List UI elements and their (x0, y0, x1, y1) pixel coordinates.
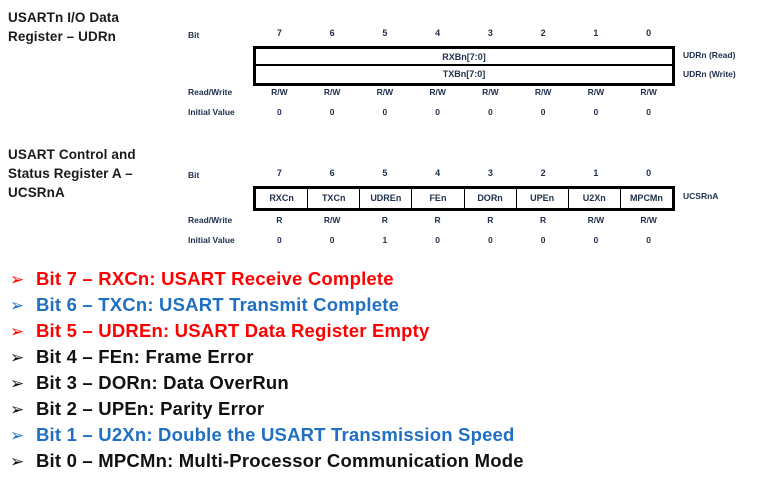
list-item: ➢ Bit 0 – MPCMn: Multi-Processor Communi… (10, 448, 760, 474)
initial-value: 0 (517, 107, 570, 117)
list-item: ➢ Bit 1 – U2Xn: Double the USART Transmi… (10, 422, 760, 448)
arrow-bullet-icon: ➢ (10, 267, 36, 293)
side-label-udrn-write: UDRn (Write) (683, 69, 736, 79)
initial-value: 0 (306, 107, 359, 117)
bit-number: 6 (306, 168, 359, 178)
initial-value: 0 (411, 235, 464, 245)
row-label-initial-value: Initial Value (188, 235, 235, 245)
arrow-bullet-icon: ➢ (10, 319, 36, 345)
list-item: ➢ Bit 5 – UDREn: USART Data Register Emp… (10, 318, 760, 344)
read-write-row: R/W R/W R/W R/W R/W R/W R/W R/W (253, 87, 675, 97)
read-write-value: R/W (622, 215, 675, 225)
initial-value: 0 (411, 107, 464, 117)
arrow-bullet-icon: ➢ (10, 371, 36, 397)
initial-value-row: 0 0 0 0 0 0 0 0 (253, 107, 675, 117)
initial-value: 0 (253, 235, 306, 245)
bit-number: 4 (411, 28, 464, 38)
read-write-value: R (359, 215, 412, 225)
bit-number: 0 (622, 28, 675, 38)
read-write-value: R/W (570, 215, 623, 225)
read-write-value: R/W (622, 87, 675, 97)
read-write-value: R/W (570, 87, 623, 97)
register-bit-cell: DORn (465, 189, 517, 208)
register-bit-cell: U2Xn (569, 189, 621, 208)
initial-value: 0 (622, 107, 675, 117)
bit-description: Bit 5 – UDREn: USART Data Register Empty (36, 318, 429, 344)
register-field-txbn: TXBn[7:0] (256, 66, 672, 83)
row-label-read-write: Read/Write (188, 87, 232, 97)
read-write-value: R (464, 215, 517, 225)
initial-value: 0 (359, 107, 412, 117)
list-item: ➢ Bit 2 – UPEn: Parity Error (10, 396, 760, 422)
register-bit-cell: TXCn (308, 189, 360, 208)
initial-value: 0 (570, 107, 623, 117)
initial-value: 0 (306, 235, 359, 245)
read-write-value: R/W (517, 87, 570, 97)
register-field-box-udrn: RXBn[7:0] TXBn[7:0] (253, 46, 675, 86)
bit-description: Bit 2 – UPEn: Parity Error (36, 396, 264, 422)
bit-number: 3 (464, 28, 517, 38)
bit-number: 7 (253, 28, 306, 38)
list-item: ➢ Bit 6 – TXCn: USART Transmit Complete (10, 292, 760, 318)
arrow-bullet-icon: ➢ (10, 293, 36, 319)
initial-value-row: 0 0 1 0 0 0 0 0 (253, 235, 675, 245)
initial-value: 0 (253, 107, 306, 117)
register-bit-cell: RXCn (256, 189, 308, 208)
bit-description: Bit 0 – MPCMn: Multi-Processor Communica… (36, 448, 524, 474)
bit-number: 2 (517, 28, 570, 38)
read-write-value: R/W (253, 87, 306, 97)
side-label-ucsrna: UCSRnA (683, 191, 718, 201)
read-write-value: R/W (306, 87, 359, 97)
initial-value: 0 (570, 235, 623, 245)
row-label-bit: Bit (188, 170, 199, 180)
arrow-bullet-icon: ➢ (10, 345, 36, 371)
bit-number-header: 7 6 5 4 3 2 1 0 (253, 28, 675, 38)
row-label-read-write: Read/Write (188, 215, 232, 225)
bit-number: 5 (359, 168, 412, 178)
initial-value: 0 (622, 235, 675, 245)
bit-description: Bit 4 – FEn: Frame Error (36, 344, 254, 370)
register-bit-cell: MPCMn (621, 189, 672, 208)
register-heading-ucsrna: USART Control andStatus Register A –UCSR… (8, 145, 183, 202)
register-bit-cell: UPEn (517, 189, 569, 208)
bit-number: 7 (253, 168, 306, 178)
arrow-bullet-icon: ➢ (10, 449, 36, 475)
bit-number: 2 (517, 168, 570, 178)
bit-number-header: 7 6 5 4 3 2 1 0 (253, 168, 675, 178)
register-heading-udrn: USARTn I/O DataRegister – UDRn (8, 8, 178, 46)
bit-number: 5 (359, 28, 412, 38)
bit-description: Bit 6 – TXCn: USART Transmit Complete (36, 292, 399, 318)
list-item: ➢ Bit 4 – FEn: Frame Error (10, 344, 760, 370)
bit-description: Bit 3 – DORn: Data OverRun (36, 370, 289, 396)
register-field-rxbn: RXBn[7:0] (256, 49, 672, 66)
arrow-bullet-icon: ➢ (10, 423, 36, 449)
bit-number: 6 (306, 28, 359, 38)
initial-value: 0 (517, 235, 570, 245)
register-bit-cells: RXCn TXCn UDREn FEn DORn UPEn U2Xn MPCMn (256, 189, 672, 208)
read-write-value: R (411, 215, 464, 225)
initial-value: 1 (359, 235, 412, 245)
bit-description: Bit 7 – RXCn: USART Receive Complete (36, 266, 394, 292)
read-write-value: R/W (359, 87, 412, 97)
initial-value: 0 (464, 235, 517, 245)
arrow-bullet-icon: ➢ (10, 397, 36, 423)
bit-number: 1 (570, 168, 623, 178)
bit-description: Bit 1 – U2Xn: Double the USART Transmiss… (36, 422, 515, 448)
list-item: ➢ Bit 7 – RXCn: USART Receive Complete (10, 266, 760, 292)
read-write-value: R/W (411, 87, 464, 97)
register-field-box-ucsrna: RXCn TXCn UDREn FEn DORn UPEn U2Xn MPCMn (253, 186, 675, 211)
row-label-initial-value: Initial Value (188, 107, 235, 117)
bit-description-list: ➢ Bit 7 – RXCn: USART Receive Complete ➢… (10, 266, 760, 474)
bit-number: 3 (464, 168, 517, 178)
read-write-row: R R/W R R R R R/W R/W (253, 215, 675, 225)
read-write-value: R/W (464, 87, 517, 97)
list-item: ➢ Bit 3 – DORn: Data OverRun (10, 370, 760, 396)
bit-number: 1 (570, 28, 623, 38)
bit-number: 0 (622, 168, 675, 178)
bit-number: 4 (411, 168, 464, 178)
register-bit-cell: UDREn (360, 189, 412, 208)
read-write-value: R (253, 215, 306, 225)
initial-value: 0 (464, 107, 517, 117)
register-bit-cell: FEn (412, 189, 464, 208)
read-write-value: R (517, 215, 570, 225)
side-label-udrn-read: UDRn (Read) (683, 50, 735, 60)
read-write-value: R/W (306, 215, 359, 225)
row-label-bit: Bit (188, 30, 199, 40)
